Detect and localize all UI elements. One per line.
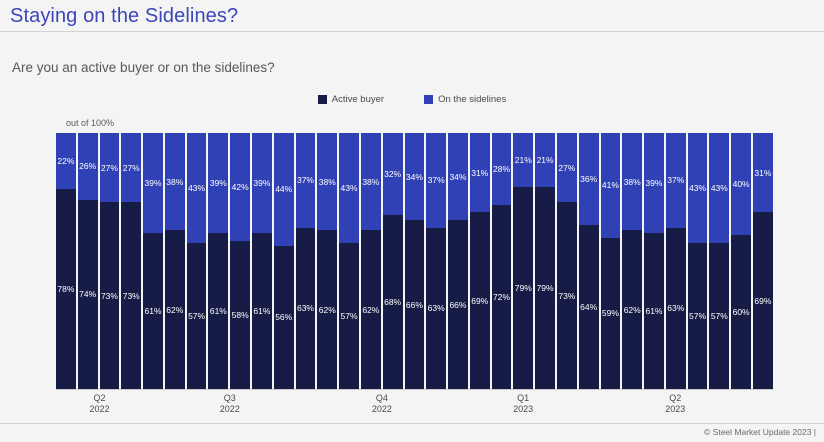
bar-segment-active-buyer: 63% [296, 228, 316, 389]
bar-segment-active-buyer: 61% [208, 233, 228, 389]
bar-segment-active-buyer: 62% [317, 230, 337, 389]
bar-value-label: 73% [123, 292, 140, 301]
bar-column[interactable]: 42%58% [230, 133, 250, 389]
bar-segment-on-the-sidelines: 39% [143, 133, 163, 233]
bar-segment-on-the-sidelines: 22% [56, 133, 76, 189]
legend-item-on-the-sidelines[interactable]: On the sidelines [424, 94, 506, 105]
bar-segment-on-the-sidelines: 21% [535, 133, 555, 187]
bar-segment-on-the-sidelines: 27% [557, 133, 577, 202]
bar-segment-on-the-sidelines: 32% [383, 133, 403, 215]
bar-segment-active-buyer: 61% [252, 233, 272, 389]
bar-value-label: 60% [733, 308, 750, 317]
bar-value-label: 37% [667, 176, 684, 185]
bar-segment-active-buyer: 58% [230, 241, 250, 389]
bar-segment-on-the-sidelines: 37% [296, 133, 316, 228]
bar-value-label: 34% [449, 173, 466, 182]
bar-value-label: 40% [733, 180, 750, 189]
bar-segment-on-the-sidelines: 31% [753, 133, 773, 212]
bar-value-label: 42% [232, 183, 249, 192]
bar-column[interactable]: 43%57% [339, 133, 359, 389]
bar-value-label: 38% [624, 178, 641, 187]
legend-item-active-buyer[interactable]: Active buyer [318, 94, 384, 105]
bar-value-label: 62% [362, 306, 379, 315]
bar-value-label: 61% [645, 307, 662, 316]
bar-column[interactable]: 38%62% [361, 133, 381, 389]
legend-swatch-icon [424, 95, 433, 104]
bar-segment-on-the-sidelines: 43% [688, 133, 708, 243]
bar-column[interactable]: 27%73% [557, 133, 577, 389]
bar-value-label: 43% [188, 184, 205, 193]
x-axis-year: 2023 [513, 404, 533, 415]
bar-value-label: 36% [580, 175, 597, 184]
bar-column[interactable]: 27%73% [100, 133, 120, 389]
bar-value-label: 27% [123, 164, 140, 173]
bar-column[interactable]: 41%59% [601, 133, 621, 389]
bar-column[interactable]: 39%61% [208, 133, 228, 389]
bar-segment-on-the-sidelines: 37% [666, 133, 686, 228]
copyright-footer: © Steel Market Update 2023 | [704, 427, 816, 437]
x-axis-tick-label: Q32022 [220, 393, 240, 415]
x-axis-year: 2023 [665, 404, 685, 415]
bar-value-label: 57% [188, 312, 205, 321]
bar-column[interactable]: 26%74% [78, 133, 98, 389]
bar-column[interactable]: 43%57% [688, 133, 708, 389]
legend-label: Active buyer [332, 94, 384, 105]
bar-value-label: 26% [79, 162, 96, 171]
bar-value-label: 66% [406, 301, 423, 310]
x-axis-quarter: Q4 [372, 393, 392, 404]
bar-segment-active-buyer: 57% [339, 243, 359, 389]
bar-segment-on-the-sidelines: 38% [317, 133, 337, 230]
bar-segment-on-the-sidelines: 27% [121, 133, 141, 202]
bar-value-label: 43% [341, 184, 358, 193]
bar-column[interactable]: 34%66% [405, 133, 425, 389]
bar-column[interactable]: 43%57% [709, 133, 729, 389]
bar-value-label: 61% [145, 307, 162, 316]
bar-column[interactable]: 39%61% [143, 133, 163, 389]
bar-segment-active-buyer: 78% [56, 189, 76, 389]
bar-column[interactable]: 27%73% [121, 133, 141, 389]
bar-value-label: 28% [493, 165, 510, 174]
bar-segment-on-the-sidelines: 42% [230, 133, 250, 241]
bar-value-label: 61% [210, 307, 227, 316]
x-axis-quarter: Q2 [665, 393, 685, 404]
bar-value-label: 34% [406, 173, 423, 182]
bar-segment-on-the-sidelines: 28% [492, 133, 512, 205]
bar-segment-active-buyer: 72% [492, 205, 512, 389]
bar-column[interactable]: 31%69% [470, 133, 490, 389]
bar-column[interactable]: 40%60% [731, 133, 751, 389]
bar-segment-active-buyer: 63% [666, 228, 686, 389]
x-axis-tick-label: Q22023 [665, 393, 685, 415]
bar-segment-active-buyer: 56% [274, 246, 294, 389]
bar-segment-on-the-sidelines: 27% [100, 133, 120, 202]
x-axis-labels: Q22022Q32022Q42022Q12023Q22023 [56, 393, 773, 425]
bar-segment-on-the-sidelines: 44% [274, 133, 294, 246]
bar-value-label: 39% [253, 179, 270, 188]
bar-column[interactable]: 38%62% [622, 133, 642, 389]
bar-value-label: 62% [624, 306, 641, 315]
bar-value-label: 61% [253, 307, 270, 316]
stacked-bar-plot: 22%78%26%74%27%73%27%73%39%61%38%62%43%5… [56, 133, 773, 389]
legend-label: On the sidelines [438, 94, 506, 105]
axis-note: out of 100% [66, 118, 114, 128]
x-axis-year: 2022 [372, 404, 392, 415]
bar-column[interactable]: 32%68% [383, 133, 403, 389]
bar-value-label: 58% [232, 311, 249, 320]
bar-value-label: 21% [537, 156, 554, 165]
bar-value-label: 31% [471, 169, 488, 178]
footer-divider [0, 423, 824, 424]
bar-segment-active-buyer: 73% [557, 202, 577, 389]
bar-value-label: 66% [449, 301, 466, 310]
bar-column[interactable]: 36%64% [579, 133, 599, 389]
bar-value-label: 62% [319, 306, 336, 315]
bar-segment-on-the-sidelines: 39% [208, 133, 228, 233]
bar-column[interactable]: 21%79% [535, 133, 555, 389]
bar-value-label: 21% [515, 156, 532, 165]
bar-value-label: 63% [297, 304, 314, 313]
bar-column[interactable]: 44%56% [274, 133, 294, 389]
bar-value-label: 27% [101, 164, 118, 173]
bar-column[interactable]: 37%63% [296, 133, 316, 389]
bar-segment-active-buyer: 79% [535, 187, 555, 389]
bar-value-label: 57% [711, 312, 728, 321]
bar-segment-active-buyer: 66% [448, 220, 468, 389]
x-axis-quarter: Q1 [513, 393, 533, 404]
bar-value-label: 74% [79, 290, 96, 299]
x-axis-quarter: Q2 [89, 393, 109, 404]
bar-column[interactable]: 34%66% [448, 133, 468, 389]
bar-value-label: 56% [275, 313, 292, 322]
bar-segment-active-buyer: 57% [709, 243, 729, 389]
bar-segment-active-buyer: 62% [165, 230, 185, 389]
bar-segment-on-the-sidelines: 43% [339, 133, 359, 243]
bar-segment-active-buyer: 61% [644, 233, 664, 389]
x-axis-year: 2022 [89, 404, 109, 415]
bar-value-label: 41% [602, 181, 619, 190]
bar-segment-active-buyer: 62% [622, 230, 642, 389]
bar-segment-on-the-sidelines: 39% [644, 133, 664, 233]
bar-column[interactable]: 38%62% [165, 133, 185, 389]
bar-value-label: 63% [428, 304, 445, 313]
bar-segment-active-buyer: 59% [601, 238, 621, 389]
bar-value-label: 79% [515, 284, 532, 293]
bar-column[interactable]: 22%78% [56, 133, 76, 389]
bar-value-label: 68% [384, 298, 401, 307]
bar-value-label: 44% [275, 185, 292, 194]
bar-segment-active-buyer: 68% [383, 215, 403, 389]
page-header: Staying on the Sidelines? [0, 0, 824, 32]
bar-segment-active-buyer: 60% [731, 235, 751, 389]
bar-segment-active-buyer: 74% [78, 200, 98, 389]
bar-segment-on-the-sidelines: 39% [252, 133, 272, 233]
bar-segment-active-buyer: 79% [513, 187, 533, 389]
bar-value-label: 31% [754, 169, 771, 178]
bar-value-label: 43% [711, 184, 728, 193]
bar-column[interactable]: 21%79% [513, 133, 533, 389]
bar-segment-active-buyer: 63% [426, 228, 446, 389]
bar-column[interactable]: 39%61% [252, 133, 272, 389]
bar-segment-active-buyer: 69% [470, 212, 490, 389]
bar-value-label: 39% [645, 179, 662, 188]
bar-segment-on-the-sidelines: 40% [731, 133, 751, 235]
bar-column[interactable]: 28%72% [492, 133, 512, 389]
bar-column[interactable]: 39%61% [644, 133, 664, 389]
bar-value-label: 57% [341, 312, 358, 321]
bar-segment-on-the-sidelines: 36% [579, 133, 599, 225]
bar-segment-on-the-sidelines: 43% [709, 133, 729, 243]
bar-segment-on-the-sidelines: 38% [165, 133, 185, 230]
bar-segment-active-buyer: 62% [361, 230, 381, 389]
bar-value-label: 78% [57, 285, 74, 294]
bar-value-label: 63% [667, 304, 684, 313]
bar-value-label: 69% [754, 297, 771, 306]
survey-question: Are you an active buyer or on the sideli… [12, 60, 275, 75]
x-axis-line [56, 389, 773, 390]
legend-swatch-icon [318, 95, 327, 104]
bar-value-label: 32% [384, 170, 401, 179]
bar-segment-active-buyer: 57% [187, 243, 207, 389]
x-axis-quarter: Q3 [220, 393, 240, 404]
page-title: Staying on the Sidelines? [10, 3, 824, 30]
bar-column[interactable]: 31%69% [753, 133, 773, 389]
bar-value-label: 64% [580, 303, 597, 312]
bar-value-label: 73% [101, 292, 118, 301]
bar-segment-active-buyer: 73% [100, 202, 120, 389]
bar-segment-on-the-sidelines: 26% [78, 133, 98, 200]
bar-value-label: 39% [145, 179, 162, 188]
bar-column[interactable]: 37%63% [426, 133, 446, 389]
x-axis-tick-label: Q12023 [513, 393, 533, 415]
bar-segment-active-buyer: 61% [143, 233, 163, 389]
bar-segment-on-the-sidelines: 21% [513, 133, 533, 187]
bar-segment-active-buyer: 57% [688, 243, 708, 389]
bar-value-label: 38% [319, 178, 336, 187]
bar-segment-on-the-sidelines: 34% [405, 133, 425, 220]
bar-value-label: 39% [210, 179, 227, 188]
bar-segment-on-the-sidelines: 43% [187, 133, 207, 243]
bar-value-label: 37% [297, 176, 314, 185]
bar-value-label: 38% [166, 178, 183, 187]
bar-column[interactable]: 43%57% [187, 133, 207, 389]
bar-value-label: 73% [558, 292, 575, 301]
bar-segment-on-the-sidelines: 37% [426, 133, 446, 228]
bar-value-label: 38% [362, 178, 379, 187]
bar-value-label: 22% [57, 157, 74, 166]
bar-value-label: 57% [689, 312, 706, 321]
chart-legend: Active buyerOn the sidelines [0, 94, 824, 105]
bar-value-label: 37% [428, 176, 445, 185]
bar-value-label: 43% [689, 184, 706, 193]
bar-value-label: 79% [537, 284, 554, 293]
bar-segment-on-the-sidelines: 38% [622, 133, 642, 230]
bar-segment-on-the-sidelines: 31% [470, 133, 490, 212]
bar-value-label: 72% [493, 293, 510, 302]
bar-value-label: 69% [471, 297, 488, 306]
x-axis-tick-label: Q42022 [372, 393, 392, 415]
bar-segment-active-buyer: 73% [121, 202, 141, 389]
bar-value-label: 59% [602, 309, 619, 318]
bar-column[interactable]: 37%63% [666, 133, 686, 389]
bar-segment-on-the-sidelines: 41% [601, 133, 621, 238]
bar-segment-active-buyer: 64% [579, 225, 599, 389]
x-axis-year: 2022 [220, 404, 240, 415]
bar-segment-active-buyer: 69% [753, 212, 773, 389]
x-axis-tick-label: Q22022 [89, 393, 109, 415]
bar-column[interactable]: 38%62% [317, 133, 337, 389]
bar-segment-active-buyer: 66% [405, 220, 425, 389]
bar-value-label: 62% [166, 306, 183, 315]
bar-segment-on-the-sidelines: 38% [361, 133, 381, 230]
bar-segment-on-the-sidelines: 34% [448, 133, 468, 220]
bar-value-label: 27% [558, 164, 575, 173]
